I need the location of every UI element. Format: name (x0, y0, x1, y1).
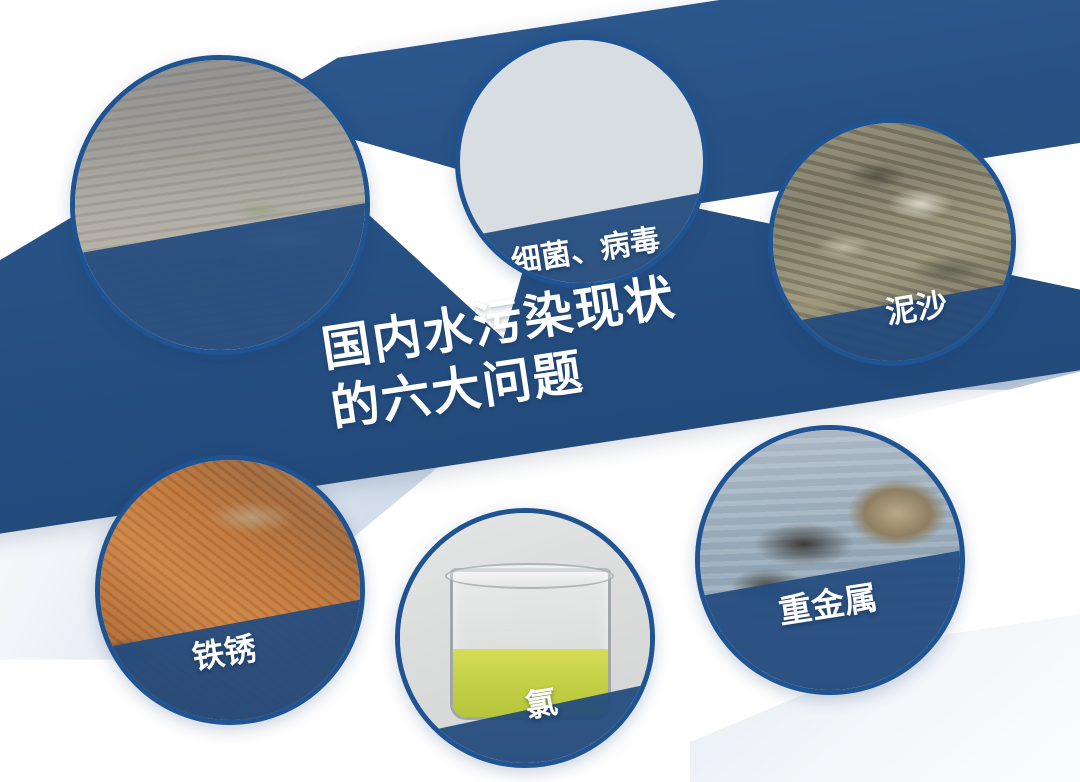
poster-canvas: 国内水污染现状的六大问题 异味 细菌、病毒 泥沙 铁锈 氯 (0, 0, 1080, 782)
item-bubble-silt[interactable]: 泥沙 (768, 118, 1016, 366)
item-label-silt: 泥沙 (882, 278, 950, 332)
beaker-rim (445, 563, 614, 589)
item-bubble-odor[interactable]: 异味 (70, 55, 370, 355)
item-bubble-rust[interactable]: 铁锈 (95, 455, 365, 725)
item-bubble-bacteria-virus[interactable]: 细菌、病毒 (455, 35, 708, 288)
item-bubble-chlorine[interactable]: 氯 (395, 508, 655, 768)
item-bubble-heavy-metals[interactable]: 重金属 (695, 425, 965, 695)
